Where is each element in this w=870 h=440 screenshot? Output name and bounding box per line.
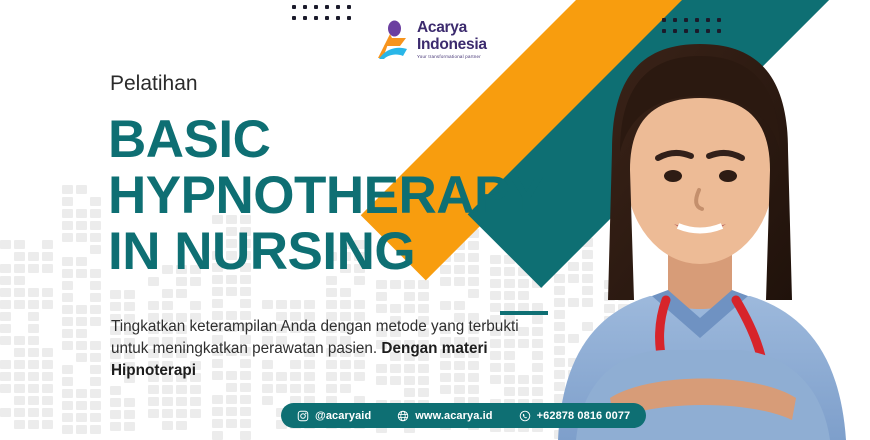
city-brick <box>90 353 101 362</box>
city-brick <box>162 385 173 394</box>
contact-website-label: www.acarya.id <box>415 410 492 422</box>
city-brick <box>42 252 53 261</box>
city-brick <box>0 360 11 369</box>
city-brick <box>90 377 101 386</box>
city-brick <box>14 420 25 429</box>
city-brick <box>76 221 87 230</box>
decor-dot <box>347 16 351 20</box>
city-brick <box>262 300 273 309</box>
city-brick <box>110 386 121 395</box>
city-brick <box>76 233 87 242</box>
brand-logo-text: Acarya Indonesia Your transformational p… <box>417 20 487 59</box>
city-brick <box>0 312 11 321</box>
city-brick <box>76 257 87 266</box>
city-brick <box>212 395 223 404</box>
decor-dot <box>336 16 340 20</box>
decor-dot <box>292 16 296 20</box>
city-brick <box>76 269 87 278</box>
city-brick <box>440 301 451 310</box>
city-brick <box>504 279 515 288</box>
city-brick <box>504 387 515 396</box>
city-brick <box>76 317 87 326</box>
city-brick <box>212 419 223 428</box>
city-brick <box>326 384 337 393</box>
city-brick <box>76 329 87 338</box>
city-brick <box>148 385 159 394</box>
city-brick <box>240 407 251 416</box>
dot-grid-top-icon <box>292 5 351 20</box>
decor-dot <box>314 5 318 9</box>
city-brick <box>28 384 39 393</box>
city-brick <box>14 384 25 393</box>
city-brick <box>240 395 251 404</box>
decor-dot <box>292 5 296 9</box>
city-brick <box>404 280 415 289</box>
promotional-banner: Acarya Indonesia Your transformational p… <box>0 0 870 440</box>
city-brick <box>76 413 87 422</box>
city-brick <box>190 385 201 394</box>
city-brick <box>62 365 73 374</box>
logo-line-1: Acarya <box>417 20 487 36</box>
city-brick <box>404 388 415 397</box>
city-brick <box>90 281 101 290</box>
city-brick <box>148 301 159 310</box>
logo-tagline: Your transformational partner <box>417 55 487 59</box>
city-brick <box>62 305 73 314</box>
city-brick <box>326 288 337 297</box>
city-brick <box>90 389 101 398</box>
city-brick <box>42 396 53 405</box>
city-brick <box>176 421 187 430</box>
city-brick <box>212 407 223 416</box>
city-brick <box>518 279 529 288</box>
contact-bar: @acaryaid www.acarya.id +62878 0816 0077 <box>281 403 646 428</box>
city-brick <box>76 389 87 398</box>
eyebrow-text: Pelatihan <box>110 72 198 96</box>
city-brick <box>90 401 101 410</box>
instagram-icon <box>297 410 309 422</box>
city-brick <box>390 304 401 313</box>
headline-line-1: BASIC <box>108 112 544 168</box>
city-brick <box>110 410 121 419</box>
city-brick <box>14 252 25 261</box>
city-brick <box>62 281 73 290</box>
city-brick <box>42 240 53 249</box>
city-brick <box>376 304 387 313</box>
city-brick <box>276 384 287 393</box>
city-brick <box>42 420 53 429</box>
city-brick <box>14 396 25 405</box>
city-brick <box>490 291 501 300</box>
city-brick <box>90 209 101 218</box>
city-brick <box>468 289 479 298</box>
city-brick <box>90 269 101 278</box>
headline-line-2: HYPNOTHERAPY <box>108 168 544 224</box>
contact-website[interactable]: www.acarya.id <box>397 410 492 422</box>
city-brick <box>212 299 223 308</box>
city-brick <box>42 288 53 297</box>
city-brick <box>162 301 173 310</box>
city-brick <box>162 397 173 406</box>
city-brick <box>62 209 73 218</box>
city-brick <box>76 341 87 350</box>
city-brick <box>418 292 429 301</box>
city-brick <box>90 425 101 434</box>
city-brick <box>28 264 39 273</box>
city-brick <box>14 240 25 249</box>
city-brick <box>176 409 187 418</box>
city-brick <box>0 288 11 297</box>
city-brick <box>76 209 87 218</box>
city-brick <box>62 401 73 410</box>
decor-dot <box>347 5 351 9</box>
city-brick <box>176 397 187 406</box>
city-brick <box>90 197 101 206</box>
city-brick <box>354 300 365 309</box>
city-brick <box>468 385 479 394</box>
city-brick <box>42 360 53 369</box>
globe-icon <box>397 410 409 422</box>
logo-line-2: Indonesia <box>417 37 487 53</box>
city-brick <box>62 425 73 434</box>
city-brick <box>212 287 223 296</box>
city-brick <box>240 431 251 440</box>
city-brick <box>124 410 135 419</box>
city-brick <box>62 341 73 350</box>
city-brick <box>304 300 315 309</box>
city-brick <box>42 384 53 393</box>
city-brick <box>14 264 25 273</box>
city-brick <box>110 290 121 299</box>
city-brick <box>176 289 187 298</box>
city-brick <box>62 185 73 194</box>
page-title: BASIC HYPNOTHERAPY IN NURSING <box>108 112 544 280</box>
city-brick <box>376 280 387 289</box>
contact-whatsapp[interactable]: +62878 0816 0077 <box>519 410 631 422</box>
decor-dot <box>314 16 318 20</box>
city-brick <box>162 289 173 298</box>
city-brick <box>62 233 73 242</box>
city-brick <box>240 419 251 428</box>
city-brick <box>490 279 501 288</box>
city-brick <box>326 300 337 309</box>
city-brick <box>62 293 73 302</box>
body-copy: Tingkatkan keterampilan Anda dengan meto… <box>111 316 551 382</box>
city-brick <box>62 413 73 422</box>
city-brick <box>28 348 39 357</box>
city-brick <box>0 324 11 333</box>
contact-instagram-label: @acaryaid <box>315 410 371 422</box>
city-brick <box>62 269 73 278</box>
city-brick <box>0 372 11 381</box>
city-brick <box>28 312 39 321</box>
city-brick <box>42 348 53 357</box>
city-brick <box>62 317 73 326</box>
city-brick <box>90 305 101 314</box>
city-brick <box>14 360 25 369</box>
city-brick <box>62 377 73 386</box>
city-brick <box>28 408 39 417</box>
city-brick <box>418 280 429 289</box>
city-brick <box>0 408 11 417</box>
city-brick <box>518 291 529 300</box>
city-brick <box>376 292 387 301</box>
city-brick <box>390 280 401 289</box>
city-brick <box>190 397 201 406</box>
city-brick <box>124 290 135 299</box>
city-brick <box>0 264 11 273</box>
city-brick <box>14 276 25 285</box>
city-brick <box>28 420 39 429</box>
city-brick <box>76 305 87 314</box>
city-brick <box>340 300 351 309</box>
city-brick <box>0 300 11 309</box>
city-brick <box>276 300 287 309</box>
city-brick <box>90 293 101 302</box>
city-brick <box>110 398 121 407</box>
city-brick <box>212 431 223 440</box>
city-brick <box>226 383 237 392</box>
city-brick <box>28 372 39 381</box>
city-brick <box>418 304 429 313</box>
city-brick <box>42 300 53 309</box>
city-brick <box>42 408 53 417</box>
contact-whatsapp-label: +62878 0816 0077 <box>537 410 631 422</box>
city-brick <box>28 336 39 345</box>
nurse-portrait <box>540 0 870 440</box>
city-brick <box>304 384 315 393</box>
city-brick <box>162 421 173 430</box>
city-brick <box>226 407 237 416</box>
city-brick <box>404 292 415 301</box>
city-brick <box>76 401 87 410</box>
headline-line-3: IN NURSING <box>108 224 544 280</box>
city-brick <box>62 257 73 266</box>
city-brick <box>42 264 53 273</box>
decor-dot <box>336 5 340 9</box>
city-brick <box>62 329 73 338</box>
city-brick <box>28 288 39 297</box>
city-brick <box>518 387 529 396</box>
city-brick <box>340 384 351 393</box>
city-brick <box>0 276 11 285</box>
city-brick <box>76 353 87 362</box>
teal-accent-dash <box>500 311 548 315</box>
city-brick <box>262 384 273 393</box>
city-brick <box>90 233 101 242</box>
city-brick <box>262 396 273 405</box>
city-brick <box>62 221 73 230</box>
city-brick <box>226 419 237 428</box>
city-brick <box>148 409 159 418</box>
decor-dot <box>303 5 307 9</box>
city-brick <box>240 299 251 308</box>
city-brick <box>14 288 25 297</box>
city-brick <box>90 341 101 350</box>
city-brick <box>454 301 465 310</box>
city-brick <box>110 302 121 311</box>
city-brick <box>124 422 135 431</box>
city-brick <box>28 324 39 333</box>
city-brick <box>404 304 415 313</box>
city-brick <box>90 365 101 374</box>
city-brick <box>0 240 11 249</box>
city-brick <box>0 336 11 345</box>
city-brick <box>290 300 301 309</box>
city-brick <box>76 425 87 434</box>
city-brick <box>76 185 87 194</box>
contact-instagram[interactable]: @acaryaid <box>297 410 371 422</box>
city-brick <box>124 302 135 311</box>
city-brick <box>14 336 25 345</box>
decor-dot <box>325 5 329 9</box>
city-brick <box>14 348 25 357</box>
city-brick <box>42 372 53 381</box>
city-brick <box>14 300 25 309</box>
brand-logo[interactable]: Acarya Indonesia Your transformational p… <box>376 20 487 60</box>
decor-dot <box>325 16 329 20</box>
city-brick <box>0 384 11 393</box>
city-brick <box>90 245 101 254</box>
city-brick <box>226 395 237 404</box>
city-brick <box>290 384 301 393</box>
city-brick <box>28 396 39 405</box>
city-brick <box>504 291 515 300</box>
city-brick <box>190 409 201 418</box>
city-brick <box>190 301 201 310</box>
city-brick <box>340 288 351 297</box>
city-brick <box>28 252 39 261</box>
city-brick <box>62 389 73 398</box>
city-brick <box>110 422 121 431</box>
city-brick <box>62 197 73 206</box>
city-brick <box>28 300 39 309</box>
city-brick <box>240 383 251 392</box>
city-brick <box>240 287 251 296</box>
city-brick <box>14 372 25 381</box>
decor-dot <box>303 16 307 20</box>
city-brick <box>176 385 187 394</box>
city-brick <box>90 413 101 422</box>
city-brick <box>418 388 429 397</box>
city-brick <box>14 408 25 417</box>
city-brick <box>148 397 159 406</box>
city-brick <box>454 385 465 394</box>
acarya-a-mark-icon <box>376 20 410 60</box>
city-brick <box>90 221 101 230</box>
city-brick <box>440 385 451 394</box>
whatsapp-icon <box>519 410 531 422</box>
city-brick <box>124 398 135 407</box>
city-brick <box>226 287 237 296</box>
city-brick <box>162 409 173 418</box>
city-brick <box>28 360 39 369</box>
city-brick <box>90 317 101 326</box>
